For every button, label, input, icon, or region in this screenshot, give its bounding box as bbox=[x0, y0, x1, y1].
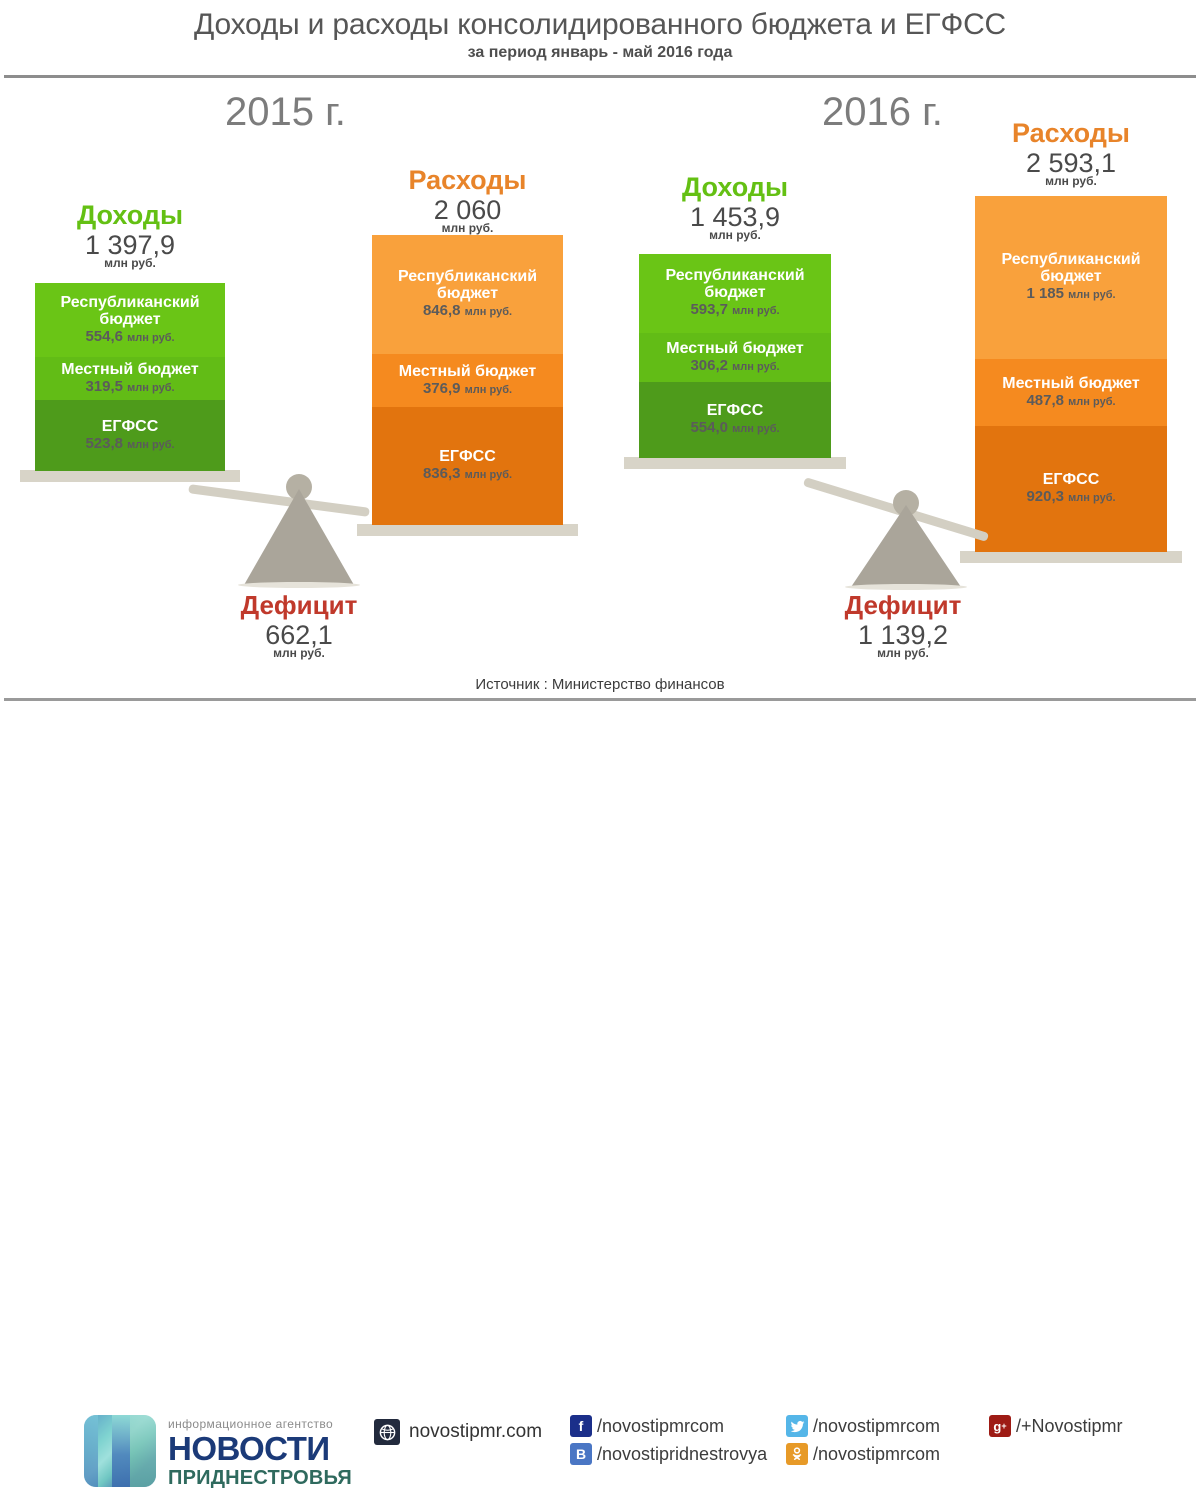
segment-name: ЕГФСС bbox=[1040, 471, 1103, 488]
seesaw-fulcrum-2015 bbox=[244, 489, 354, 585]
deficit-2015: Дефицит 662,1 млн руб. bbox=[199, 590, 399, 660]
segment-name: Местный бюджет bbox=[396, 363, 540, 380]
segment-name: Республиканский бюджет bbox=[35, 294, 225, 328]
page-title: Доходы и расходы консолидированного бюдж… bbox=[0, 8, 1200, 42]
expense-2015-base-pad bbox=[357, 524, 578, 536]
income-2016-unit: млн руб. bbox=[639, 229, 831, 242]
income-2016-kind: Доходы bbox=[639, 172, 831, 202]
expense-2016-segment-republican: Республиканский бюджет 1 185 млн руб. bbox=[975, 196, 1167, 359]
income-2015-base-pad bbox=[20, 470, 240, 482]
deficit-2016-label: Дефицит bbox=[803, 590, 1003, 620]
footer-divider bbox=[4, 698, 1196, 701]
expense-2015-segment-local: Местный бюджет 376,9 млн руб. bbox=[372, 354, 563, 407]
segment-name: Местный бюджет bbox=[663, 340, 807, 357]
segment-value: 523,8 млн руб. bbox=[85, 435, 174, 454]
social-link-googleplus[interactable]: g+ /+Novostipmr bbox=[989, 1415, 1123, 1437]
expense-2016-segment-local: Местный бюджет 487,8 млн руб. bbox=[975, 359, 1167, 426]
segment-value: 306,2 млн руб. bbox=[690, 357, 779, 376]
expense-2016-base-pad bbox=[960, 551, 1182, 563]
segment-name: Местный бюджет bbox=[999, 375, 1143, 392]
source-line: Источник : Министерство финансов bbox=[0, 676, 1200, 693]
googleplus-handle: /+Novostipmr bbox=[1016, 1416, 1123, 1437]
income-2015-unit: млн руб. bbox=[35, 257, 225, 270]
segment-value: 554,0 млн руб. bbox=[690, 419, 779, 438]
deficit-2016: Дефицит 1 139,2 млн руб. bbox=[803, 590, 1003, 660]
income-2016-segment-egfss: ЕГФСС 554,0 млн руб. bbox=[639, 382, 831, 458]
expense-2015-segment-egfss: ЕГФСС 836,3 млн руб. bbox=[372, 407, 563, 525]
odnoklassniki-icon bbox=[786, 1443, 808, 1465]
social-link-vk[interactable]: B /novostipridnestrovya bbox=[570, 1443, 768, 1465]
expense-2015-kind: Расходы bbox=[372, 165, 563, 195]
segment-value: 920,3 млн руб. bbox=[1026, 488, 1115, 507]
social-row-top: f /novostipmrcom /novostipmrcom g+ /+Nov… bbox=[570, 1415, 1190, 1437]
income-2015-segment-republican: Республиканский бюджет 554,6 млн руб. bbox=[35, 283, 225, 357]
brand-logo-text: информационное агентство НОВОСТИ ПРИДНЕС… bbox=[168, 1417, 352, 1489]
infographic-root: Доходы и расходы консолидированного бюдж… bbox=[0, 0, 1200, 800]
facebook-handle: /novostipmrcom bbox=[597, 1416, 724, 1437]
brand-region: ПРИДНЕСТРОВЬЯ bbox=[168, 1467, 352, 1489]
seesaw-ground-2015 bbox=[238, 582, 360, 588]
segment-name: ЕГФСС bbox=[704, 402, 767, 419]
twitter-handle: /novostipmrcom bbox=[813, 1416, 940, 1437]
year-label-2016: 2016 г. bbox=[822, 90, 943, 135]
income-2015-segment-egfss: ЕГФСС 523,8 млн руб. bbox=[35, 400, 225, 471]
income-2016-segment-local: Местный бюджет 306,2 млн руб. bbox=[639, 333, 831, 382]
expense-2015-header: Расходы 2 060 млн руб. bbox=[372, 165, 563, 235]
segment-value: 836,3 млн руб. bbox=[423, 465, 512, 484]
income-2016-bar: Республиканский бюджет 593,7 млн руб. Ме… bbox=[639, 254, 831, 458]
segment-name: Республиканский бюджет bbox=[372, 268, 563, 302]
segment-value: 376,9 млн руб. bbox=[423, 380, 512, 399]
expense-2015-segment-republican: Республиканский бюджет 846,8 млн руб. bbox=[372, 235, 563, 354]
expense-2016-header: Расходы 2 593,1 млн руб. bbox=[975, 118, 1167, 188]
social-links: f /novostipmrcom /novostipmrcom g+ /+Nov… bbox=[570, 1415, 1190, 1471]
segment-value: 846,8 млн руб. bbox=[423, 302, 512, 321]
header-divider bbox=[4, 75, 1196, 78]
segment-value: 554,6 млн руб. bbox=[85, 328, 174, 347]
page-subtitle: за период январь - май 2016 года bbox=[0, 44, 1200, 62]
social-link-odnoklassniki[interactable]: /novostipmrcom bbox=[786, 1443, 940, 1465]
googleplus-icon: g+ bbox=[989, 1415, 1011, 1437]
deficit-2015-unit: млн руб. bbox=[199, 647, 399, 660]
twitter-icon bbox=[786, 1415, 808, 1437]
seesaw-fulcrum-2016 bbox=[851, 505, 961, 587]
website-url: novostipmr.com bbox=[409, 1421, 542, 1443]
vk-icon: B bbox=[570, 1443, 592, 1465]
segment-name: ЕГФСС bbox=[436, 448, 499, 465]
expense-2015-unit: млн руб. bbox=[372, 222, 563, 235]
deficit-2016-unit: млн руб. bbox=[803, 647, 1003, 660]
income-2015-bar: Республиканский бюджет 554,6 млн руб. Ме… bbox=[35, 283, 225, 471]
social-link-facebook[interactable]: f /novostipmrcom bbox=[570, 1415, 768, 1437]
brand-logo-icon bbox=[84, 1415, 156, 1487]
income-2016-base-pad bbox=[624, 457, 846, 469]
segment-value: 593,7 млн руб. bbox=[690, 301, 779, 320]
expense-2016-segment-egfss: ЕГФСС 920,3 млн руб. bbox=[975, 426, 1167, 552]
social-row-bottom: B /novostipridnestrovya /novostipmrcom bbox=[570, 1443, 1190, 1465]
income-2015-segment-local: Местный бюджет 319,5 млн руб. bbox=[35, 357, 225, 400]
deficit-2015-label: Дефицит bbox=[199, 590, 399, 620]
segment-name: ЕГФСС bbox=[99, 418, 162, 435]
income-2015-kind: Доходы bbox=[35, 200, 225, 230]
segment-value: 1 185 млн руб. bbox=[1026, 285, 1115, 304]
social-link-twitter[interactable]: /novostipmrcom bbox=[786, 1415, 971, 1437]
expense-2016-unit: млн руб. bbox=[975, 175, 1167, 188]
brand-tagline: информационное агентство bbox=[168, 1417, 352, 1431]
segment-name: Республиканский бюджет bbox=[975, 251, 1167, 285]
expense-2015-bar: Республиканский бюджет 846,8 млн руб. Ме… bbox=[372, 235, 563, 525]
odnoklassniki-handle: /novostipmrcom bbox=[813, 1444, 940, 1465]
expense-2016-bar: Республиканский бюджет 1 185 млн руб. Ме… bbox=[975, 196, 1167, 552]
facebook-icon: f bbox=[570, 1415, 592, 1437]
year-label-2015: 2015 г. bbox=[225, 90, 346, 135]
segment-name: Республиканский бюджет bbox=[639, 267, 831, 301]
segment-value: 319,5 млн руб. bbox=[85, 378, 174, 397]
website-link[interactable]: novostipmr.com bbox=[374, 1419, 542, 1445]
vk-handle: /novostipridnestrovya bbox=[597, 1444, 767, 1465]
segment-name: Местный бюджет bbox=[58, 361, 202, 378]
footer: информационное агентство НОВОСТИ ПРИДНЕС… bbox=[0, 703, 1200, 800]
income-2015-header: Доходы 1 397,9 млн руб. bbox=[35, 200, 225, 270]
globe-icon bbox=[374, 1419, 400, 1445]
expense-2016-kind: Расходы bbox=[975, 118, 1167, 148]
income-2016-segment-republican: Республиканский бюджет 593,7 млн руб. bbox=[639, 254, 831, 333]
brand-name: НОВОСТИ bbox=[168, 1431, 352, 1467]
segment-value: 487,8 млн руб. bbox=[1026, 392, 1115, 411]
income-2016-header: Доходы 1 453,9 млн руб. bbox=[639, 172, 831, 242]
